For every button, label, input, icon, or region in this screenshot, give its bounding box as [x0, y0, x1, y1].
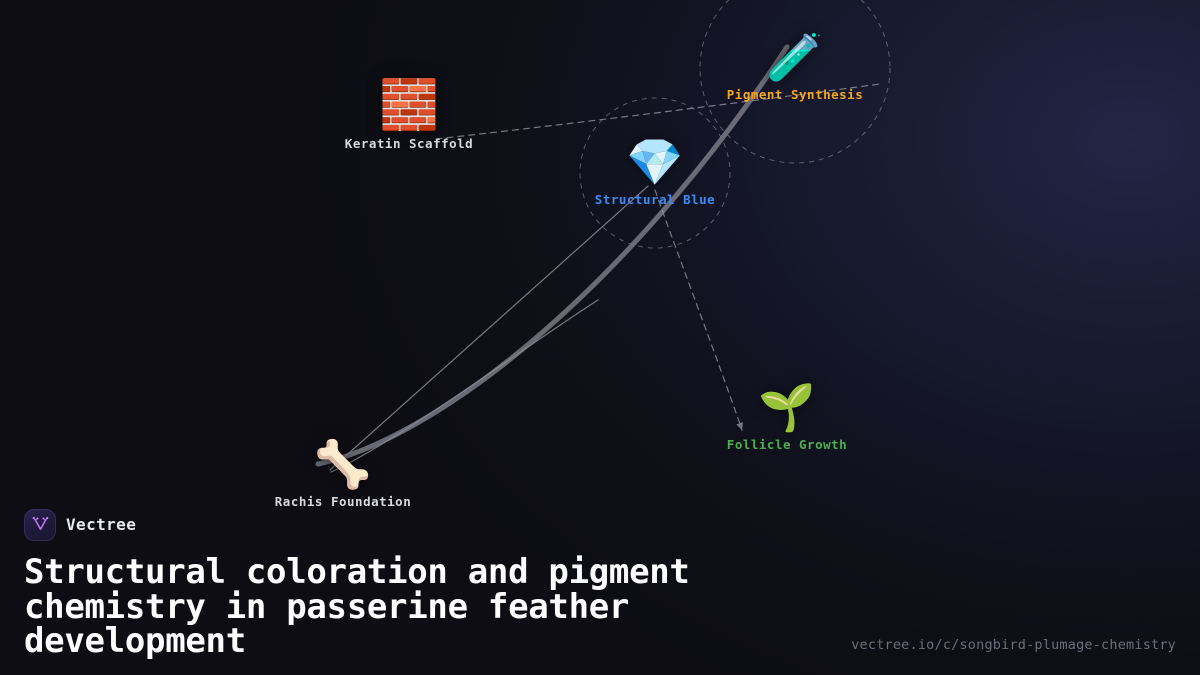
node-label-keratin-scaffold: Keratin Scaffold — [345, 136, 473, 151]
edge-rachis-to-structural[interactable] — [330, 186, 648, 470]
gem-icon: 💎 — [626, 139, 683, 185]
graph-node-keratin-scaffold[interactable]: 🧱Keratin Scaffold — [345, 81, 473, 151]
brand-row: Vectree — [24, 509, 1176, 541]
graph-node-rachis-foundation[interactable]: 🦴Rachis Foundation — [275, 441, 411, 509]
graph-node-structural-blue[interactable]: 💎Structural Blue — [595, 139, 715, 207]
brick-icon: 🧱 — [379, 81, 439, 129]
page-title: Structural coloration and pigment chemis… — [24, 555, 784, 659]
graph-node-pigment-synthesis[interactable]: 🧪Pigment Synthesis — [727, 34, 863, 102]
test-tube-icon: 🧪 — [766, 34, 823, 80]
node-label-structural-blue: Structural Blue — [595, 192, 715, 207]
concept-map-canvas: 🧱Keratin Scaffold🧪Pigment Synthesis💎Stru… — [0, 0, 1200, 675]
node-label-pigment-synthesis: Pigment Synthesis — [727, 87, 863, 102]
bone-icon: 🦴 — [314, 441, 371, 487]
seedling-icon: 🌱 — [758, 384, 815, 430]
vectree-tree-icon — [24, 509, 56, 541]
node-label-rachis-foundation: Rachis Foundation — [275, 494, 411, 509]
brand-name: Vectree — [66, 515, 136, 534]
vectree-glyph — [31, 515, 50, 534]
node-label-follicle-growth: Follicle Growth — [727, 437, 847, 452]
source-url: vectree.io/c/songbird-plumage-chemistry — [851, 637, 1176, 653]
graph-node-follicle-growth[interactable]: 🌱Follicle Growth — [727, 384, 847, 452]
